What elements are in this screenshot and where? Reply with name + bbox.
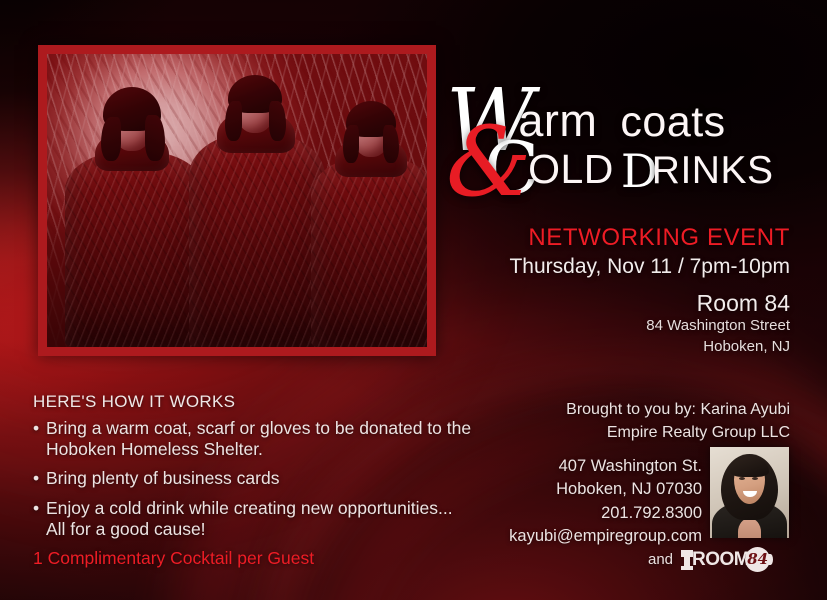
flyer-headline: Warmcoats & COLDDRINKS bbox=[436, 62, 820, 212]
logo-84-badge-icon: 84 bbox=[745, 547, 770, 572]
bullet-icon: • bbox=[33, 418, 46, 459]
venue-street: 84 Washington Street bbox=[430, 316, 790, 336]
event-datetime: Thursday, Nov 11 / 7pm-10pm bbox=[430, 255, 790, 279]
how-it-works-section: HERE'S HOW IT WORKS • Bring a warm coat,… bbox=[33, 392, 473, 548]
avatar bbox=[710, 447, 789, 538]
event-details: NETWORKING EVENT Thursday, Nov 11 / 7pm-… bbox=[430, 224, 790, 357]
event-flyer: Warmcoats & COLDDRINKS NETWORKING EVENT … bbox=[0, 0, 827, 600]
hero-photo bbox=[47, 54, 427, 347]
headline-word-rinks: RINKS bbox=[652, 149, 774, 192]
how-it-works-item-text: Bring plenty of business cards bbox=[46, 468, 473, 489]
venue-name: Room 84 bbox=[430, 290, 790, 316]
sponsor-credit: Brought to you by: Karina Ayubi Empire R… bbox=[470, 398, 790, 444]
room84-logo[interactable]: ROOM 84 bbox=[681, 546, 777, 572]
contact-city: Hoboken, NJ 07030 bbox=[470, 478, 702, 501]
contact-street: 407 Washington St. bbox=[470, 455, 702, 478]
hero-photo-frame bbox=[38, 45, 436, 356]
logo-right-mark-icon bbox=[768, 554, 777, 565]
bullet-icon: • bbox=[33, 468, 46, 489]
logo-room-word: ROOM bbox=[692, 550, 749, 569]
how-it-works-item-text: Enjoy a cold drink while creating new op… bbox=[46, 498, 473, 539]
bullet-icon: • bbox=[33, 498, 46, 539]
complimentary-cocktail-note: 1 Complimentary Cocktail per Guest bbox=[33, 548, 314, 569]
logo-84-text: 84 bbox=[747, 552, 768, 567]
hero-photo-duotone-tint bbox=[47, 54, 427, 347]
how-it-works-item: • Bring a warm coat, scarf or gloves to … bbox=[33, 418, 473, 459]
and-label: and bbox=[648, 551, 673, 568]
headline-word-old: OLD bbox=[528, 146, 614, 192]
venue-city: Hoboken, NJ bbox=[430, 337, 790, 357]
how-it-works-item: • Bring plenty of business cards bbox=[33, 468, 473, 489]
headline-ampersand: & bbox=[446, 114, 531, 210]
sponsor-company: Empire Realty Group LLC bbox=[470, 421, 790, 444]
partner-logo-row: and ROOM 84 bbox=[648, 545, 777, 573]
how-it-works-title: HERE'S HOW IT WORKS bbox=[33, 392, 473, 412]
sponsor-brought-by: Brought to you by: Karina Ayubi bbox=[470, 398, 790, 421]
event-type-label: NETWORKING EVENT bbox=[430, 224, 790, 252]
how-it-works-item-text: Bring a warm coat, scarf or gloves to be… bbox=[46, 418, 473, 459]
sponsor-contact-details: 407 Washington St. Hoboken, NJ 07030 201… bbox=[470, 455, 702, 549]
contact-phone[interactable]: 201.792.8300 bbox=[470, 502, 702, 525]
how-it-works-item: • Enjoy a cold drink while creating new … bbox=[33, 498, 473, 539]
